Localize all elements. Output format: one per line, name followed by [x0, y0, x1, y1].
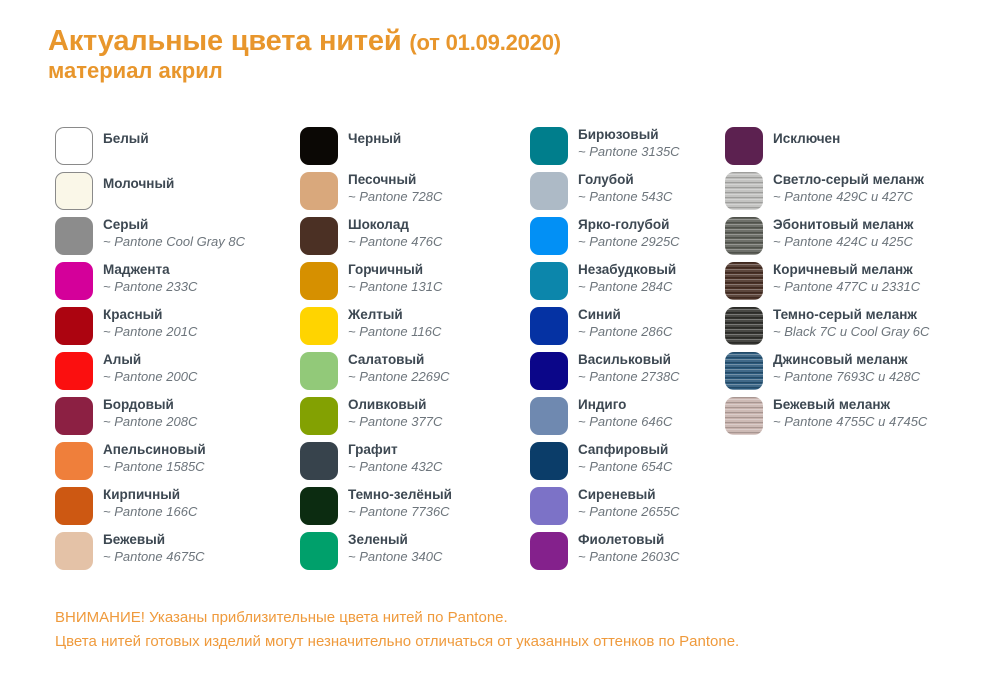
- color-swatch[interactable]: [55, 127, 93, 165]
- color-swatch[interactable]: [300, 172, 338, 210]
- swatch-labels: Сиреневый~ Pantone 2655C: [578, 486, 680, 520]
- swatch-labels: Темно-серый меланж~ Black 7C и Cool Gray…: [773, 306, 929, 340]
- color-swatch[interactable]: [300, 127, 338, 165]
- color-swatch[interactable]: [55, 352, 93, 390]
- swatch-name: Бежевый меланж: [773, 396, 927, 413]
- swatch-labels: Голубой~ Pantone 543C: [578, 171, 672, 205]
- swatch-name: Алый: [103, 351, 197, 368]
- swatch-labels: Белый: [103, 130, 149, 147]
- swatch-name: Молочный: [103, 175, 174, 192]
- swatch-pantone-code: ~ Pantone 7693C и 428C: [773, 368, 920, 385]
- color-swatch[interactable]: [725, 397, 763, 435]
- swatch-row[interactable]: Васильковый~ Pantone 2738C: [530, 351, 725, 396]
- swatch-row[interactable]: Горчичный~ Pantone 131C: [300, 261, 525, 306]
- swatch-row[interactable]: Эбонитовый меланж~ Pantone 424C и 425C: [725, 216, 990, 261]
- color-swatch[interactable]: [530, 442, 568, 480]
- color-swatch[interactable]: [300, 397, 338, 435]
- swatch-row[interactable]: Оливковый~ Pantone 377C: [300, 396, 525, 441]
- swatch-labels: Фиолетовый~ Pantone 2603C: [578, 531, 680, 565]
- swatch-labels: Красный~ Pantone 201C: [103, 306, 197, 340]
- color-swatch[interactable]: [300, 487, 338, 525]
- swatch-pantone-code: ~ Pantone 432C: [348, 458, 442, 475]
- swatch-labels: Коричневый меланж~ Pantone 477C и 2331C: [773, 261, 920, 295]
- swatch-pantone-code: ~ Pantone 477C и 2331C: [773, 278, 920, 295]
- color-swatch[interactable]: [300, 262, 338, 300]
- swatch-row[interactable]: Исключен: [725, 126, 990, 171]
- color-swatch[interactable]: [530, 487, 568, 525]
- swatch-pantone-code: ~ Pantone 476C: [348, 233, 442, 250]
- swatch-row[interactable]: Белый: [55, 126, 290, 171]
- swatch-pantone-code: ~ Pantone 654C: [578, 458, 672, 475]
- color-swatch[interactable]: [55, 172, 93, 210]
- color-swatch[interactable]: [725, 127, 763, 165]
- swatch-pantone-code: ~ Pantone Cool Gray 8C: [103, 233, 245, 250]
- swatch-pantone-code: ~ Pantone 284C: [578, 278, 676, 295]
- swatch-labels: Кирпичный~ Pantone 166C: [103, 486, 197, 520]
- swatch-name: Оливковый: [348, 396, 442, 413]
- swatch-name: Сапфировый: [578, 441, 672, 458]
- swatch-row[interactable]: Апельсиновый~ Pantone 1585C: [55, 441, 290, 486]
- swatch-labels: Ярко-голубой~ Pantone 2925C: [578, 216, 680, 250]
- swatch-row[interactable]: Темно-зелёный~ Pantone 7736C: [300, 486, 525, 531]
- swatch-pantone-code: ~ Pantone 646C: [578, 413, 672, 430]
- swatch-column: Бирюзовый~ Pantone 3135CГолубой~ Pantone…: [530, 126, 725, 576]
- swatch-row[interactable]: Черный: [300, 126, 525, 171]
- swatch-row[interactable]: Бирюзовый~ Pantone 3135C: [530, 126, 725, 171]
- swatch-pantone-code: ~ Black 7C и Cool Gray 6C: [773, 323, 929, 340]
- swatch-row[interactable]: Сапфировый~ Pantone 654C: [530, 441, 725, 486]
- color-swatch[interactable]: [55, 487, 93, 525]
- swatch-row[interactable]: Красный~ Pantone 201C: [55, 306, 290, 351]
- swatch-pantone-code: ~ Pantone 377C: [348, 413, 442, 430]
- swatch-labels: Молочный: [103, 175, 174, 192]
- color-swatch[interactable]: [530, 172, 568, 210]
- swatch-name: Красный: [103, 306, 197, 323]
- swatch-labels: Салатовый~ Pantone 2269C: [348, 351, 450, 385]
- color-swatch[interactable]: [725, 217, 763, 255]
- swatch-row[interactable]: Голубой~ Pantone 543C: [530, 171, 725, 216]
- swatch-row[interactable]: Незабудковый~ Pantone 284C: [530, 261, 725, 306]
- swatch-row[interactable]: Графит~ Pantone 432C: [300, 441, 525, 486]
- swatch-name: Фиолетовый: [578, 531, 680, 548]
- color-swatch[interactable]: [55, 262, 93, 300]
- swatch-row[interactable]: Зеленый~ Pantone 340C: [300, 531, 525, 576]
- swatch-name: Бордовый: [103, 396, 197, 413]
- swatch-name: Ярко-голубой: [578, 216, 680, 233]
- swatch-pantone-code: ~ Pantone 728C: [348, 188, 442, 205]
- swatch-pantone-code: ~ Pantone 2269C: [348, 368, 450, 385]
- swatch-row[interactable]: Индиго~ Pantone 646C: [530, 396, 725, 441]
- swatch-name: Темно-зелёный: [348, 486, 452, 503]
- swatch-pantone-code: ~ Pantone 166C: [103, 503, 197, 520]
- swatch-labels: Сапфировый~ Pantone 654C: [578, 441, 672, 475]
- swatch-name: Светло-серый меланж: [773, 171, 924, 188]
- color-swatch[interactable]: [530, 127, 568, 165]
- swatch-row[interactable]: Кирпичный~ Pantone 166C: [55, 486, 290, 531]
- swatch-pantone-code: ~ Pantone 1585C: [103, 458, 206, 475]
- swatch-labels: Горчичный~ Pantone 131C: [348, 261, 442, 295]
- swatch-pantone-code: ~ Pantone 233C: [103, 278, 197, 295]
- swatch-labels: Желтый~ Pantone 116C: [348, 306, 441, 340]
- color-swatch[interactable]: [55, 217, 93, 255]
- swatch-row[interactable]: Светло-серый меланж~ Pantone 429C и 427C: [725, 171, 990, 216]
- color-swatch[interactable]: [300, 217, 338, 255]
- swatch-name: Апельсиновый: [103, 441, 206, 458]
- swatch-name: Эбонитовый меланж: [773, 216, 914, 233]
- swatch-name: Маджента: [103, 261, 197, 278]
- swatch-pantone-code: ~ Pantone 2925C: [578, 233, 680, 250]
- swatch-row[interactable]: Ярко-голубой~ Pantone 2925C: [530, 216, 725, 261]
- swatch-pantone-code: ~ Pantone 7736C: [348, 503, 452, 520]
- swatch-name: Бежевый: [103, 531, 205, 548]
- swatch-pantone-code: ~ Pantone 543C: [578, 188, 672, 205]
- swatch-pantone-code: ~ Pantone 131C: [348, 278, 442, 295]
- swatch-column: ЧерныйПесочный~ Pantone 728CШоколад~ Pan…: [300, 126, 525, 576]
- color-swatch[interactable]: [725, 262, 763, 300]
- swatch-row[interactable]: Салатовый~ Pantone 2269C: [300, 351, 525, 396]
- swatch-name: Серый: [103, 216, 245, 233]
- swatch-name: Синий: [578, 306, 672, 323]
- swatch-labels: Джинсовый меланж~ Pantone 7693C и 428C: [773, 351, 920, 385]
- swatch-name: Шоколад: [348, 216, 442, 233]
- swatch-pantone-code: ~ Pantone 2655C: [578, 503, 680, 520]
- color-swatch[interactable]: [530, 532, 568, 570]
- swatch-labels: Алый~ Pantone 200C: [103, 351, 197, 385]
- swatch-labels: Черный: [348, 130, 401, 147]
- swatch-labels: Зеленый~ Pantone 340C: [348, 531, 442, 565]
- swatch-pantone-code: ~ Pantone 116C: [348, 323, 441, 340]
- color-swatch[interactable]: [300, 307, 338, 345]
- swatch-name: Голубой: [578, 171, 672, 188]
- swatch-labels: Эбонитовый меланж~ Pantone 424C и 425C: [773, 216, 914, 250]
- swatch-row[interactable]: Бежевый меланж~ Pantone 4755C и 4745C: [725, 396, 990, 441]
- color-swatch[interactable]: [725, 352, 763, 390]
- swatch-row[interactable]: Темно-серый меланж~ Black 7C и Cool Gray…: [725, 306, 990, 351]
- swatch-row[interactable]: Фиолетовый~ Pantone 2603C: [530, 531, 725, 576]
- color-swatch[interactable]: [300, 352, 338, 390]
- swatch-name: Исключен: [773, 130, 840, 147]
- color-swatch-grid: БелыйМолочныйСерый~ Pantone Cool Gray 8C…: [0, 0, 1000, 600]
- color-swatch[interactable]: [530, 352, 568, 390]
- color-swatch[interactable]: [55, 442, 93, 480]
- swatch-labels: Исключен: [773, 130, 840, 147]
- swatch-labels: Индиго~ Pantone 646C: [578, 396, 672, 430]
- swatch-row[interactable]: Алый~ Pantone 200C: [55, 351, 290, 396]
- swatch-labels: Светло-серый меланж~ Pantone 429C и 427C: [773, 171, 924, 205]
- color-swatch[interactable]: [55, 397, 93, 435]
- color-swatch[interactable]: [55, 307, 93, 345]
- swatch-row[interactable]: Песочный~ Pantone 728C: [300, 171, 525, 216]
- swatch-column: ИсключенСветло-серый меланж~ Pantone 429…: [725, 126, 990, 441]
- swatch-name: Кирпичный: [103, 486, 197, 503]
- color-swatch[interactable]: [55, 532, 93, 570]
- swatch-name: Желтый: [348, 306, 441, 323]
- swatch-row[interactable]: Маджента~ Pantone 233C: [55, 261, 290, 306]
- swatch-name: Коричневый меланж: [773, 261, 920, 278]
- swatch-name: Бирюзовый: [578, 126, 680, 143]
- swatch-labels: Песочный~ Pantone 728C: [348, 171, 442, 205]
- swatch-pantone-code: ~ Pantone 4675C: [103, 548, 205, 565]
- swatch-name: Черный: [348, 130, 401, 147]
- swatch-row[interactable]: Шоколад~ Pantone 476C: [300, 216, 525, 261]
- swatch-name: Васильковый: [578, 351, 680, 368]
- color-swatch[interactable]: [530, 307, 568, 345]
- swatch-name: Незабудковый: [578, 261, 676, 278]
- swatch-name: Песочный: [348, 171, 442, 188]
- swatch-pantone-code: ~ Pantone 208C: [103, 413, 197, 430]
- swatch-labels: Графит~ Pantone 432C: [348, 441, 442, 475]
- swatch-labels: Бежевый~ Pantone 4675C: [103, 531, 205, 565]
- color-swatch[interactable]: [725, 172, 763, 210]
- swatch-row[interactable]: Джинсовый меланж~ Pantone 7693C и 428C: [725, 351, 990, 396]
- swatch-labels: Маджента~ Pantone 233C: [103, 261, 197, 295]
- swatch-pantone-code: ~ Pantone 201C: [103, 323, 197, 340]
- color-swatch[interactable]: [530, 217, 568, 255]
- swatch-name: Индиго: [578, 396, 672, 413]
- swatch-column: БелыйМолочныйСерый~ Pantone Cool Gray 8C…: [55, 126, 290, 576]
- footer-line-1: ВНИМАНИЕ! Указаны приблизительные цвета …: [55, 606, 955, 630]
- swatch-name: Графит: [348, 441, 442, 458]
- swatch-pantone-code: ~ Pantone 424C и 425C: [773, 233, 914, 250]
- swatch-name: Темно-серый меланж: [773, 306, 929, 323]
- swatch-labels: Шоколад~ Pantone 476C: [348, 216, 442, 250]
- color-swatch[interactable]: [530, 262, 568, 300]
- footer-note: ВНИМАНИЕ! Указаны приблизительные цвета …: [55, 606, 955, 654]
- swatch-pantone-code: ~ Pantone 286C: [578, 323, 672, 340]
- swatch-labels: Синий~ Pantone 286C: [578, 306, 672, 340]
- swatch-row[interactable]: Бежевый~ Pantone 4675C: [55, 531, 290, 576]
- swatch-pantone-code: ~ Pantone 4755C и 4745C: [773, 413, 927, 430]
- swatch-pantone-code: ~ Pantone 429C и 427C: [773, 188, 924, 205]
- swatch-labels: Незабудковый~ Pantone 284C: [578, 261, 676, 295]
- swatch-labels: Апельсиновый~ Pantone 1585C: [103, 441, 206, 475]
- color-swatch[interactable]: [530, 397, 568, 435]
- color-swatch[interactable]: [725, 307, 763, 345]
- swatch-labels: Темно-зелёный~ Pantone 7736C: [348, 486, 452, 520]
- swatch-name: Сиреневый: [578, 486, 680, 503]
- swatch-row[interactable]: Молочный: [55, 171, 290, 216]
- swatch-name: Джинсовый меланж: [773, 351, 920, 368]
- swatch-row[interactable]: Бордовый~ Pantone 208C: [55, 396, 290, 441]
- swatch-name: Салатовый: [348, 351, 450, 368]
- color-swatch[interactable]: [300, 532, 338, 570]
- swatch-labels: Васильковый~ Pantone 2738C: [578, 351, 680, 385]
- footer-line-2: Цвета нитей готовых изделий могут незнач…: [55, 630, 955, 654]
- color-swatch[interactable]: [300, 442, 338, 480]
- swatch-row[interactable]: Серый~ Pantone Cool Gray 8C: [55, 216, 290, 261]
- swatch-pantone-code: ~ Pantone 3135C: [578, 143, 680, 160]
- swatch-labels: Бирюзовый~ Pantone 3135C: [578, 126, 680, 160]
- swatch-labels: Серый~ Pantone Cool Gray 8C: [103, 216, 245, 250]
- swatch-pantone-code: ~ Pantone 200C: [103, 368, 197, 385]
- swatch-labels: Оливковый~ Pantone 377C: [348, 396, 442, 430]
- swatch-pantone-code: ~ Pantone 2738C: [578, 368, 680, 385]
- swatch-labels: Бежевый меланж~ Pantone 4755C и 4745C: [773, 396, 927, 430]
- swatch-name: Белый: [103, 130, 149, 147]
- swatch-row[interactable]: Сиреневый~ Pantone 2655C: [530, 486, 725, 531]
- swatch-row[interactable]: Синий~ Pantone 286C: [530, 306, 725, 351]
- swatch-labels: Бордовый~ Pantone 208C: [103, 396, 197, 430]
- swatch-row[interactable]: Желтый~ Pantone 116C: [300, 306, 525, 351]
- swatch-pantone-code: ~ Pantone 340C: [348, 548, 442, 565]
- swatch-pantone-code: ~ Pantone 2603C: [578, 548, 680, 565]
- swatch-row[interactable]: Коричневый меланж~ Pantone 477C и 2331C: [725, 261, 990, 306]
- swatch-name: Горчичный: [348, 261, 442, 278]
- swatch-name: Зеленый: [348, 531, 442, 548]
